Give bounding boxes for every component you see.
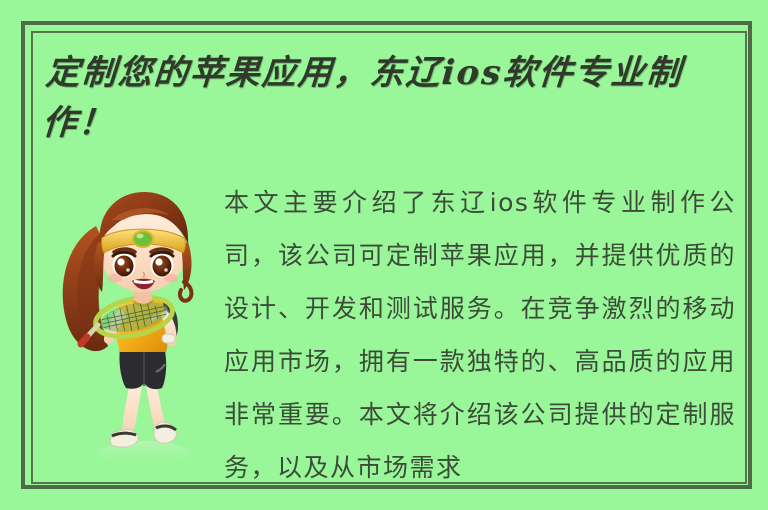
article-body: 本文主要介绍了东辽ios软件专业制作公司，该公司可定制苹果应用，并提供优质的设计… xyxy=(224,176,736,482)
hair-curl xyxy=(180,282,192,301)
cheek-left xyxy=(108,274,122,283)
wristband xyxy=(162,334,175,343)
article-title: 定制您的苹果应用，东辽ios软件专业制作！ xyxy=(41,48,748,148)
shorts xyxy=(119,346,166,389)
chibi-badminton-girl-illustration xyxy=(52,186,232,474)
article-card: 定制您的苹果应用，东辽ios软件专业制作！ xyxy=(0,0,768,510)
headband-gem xyxy=(133,231,153,247)
cheek-right xyxy=(164,274,178,283)
racket-grip xyxy=(81,337,87,344)
gem-highlight xyxy=(137,234,144,239)
teeth xyxy=(134,281,153,283)
chibi-girl-svg xyxy=(52,186,232,474)
